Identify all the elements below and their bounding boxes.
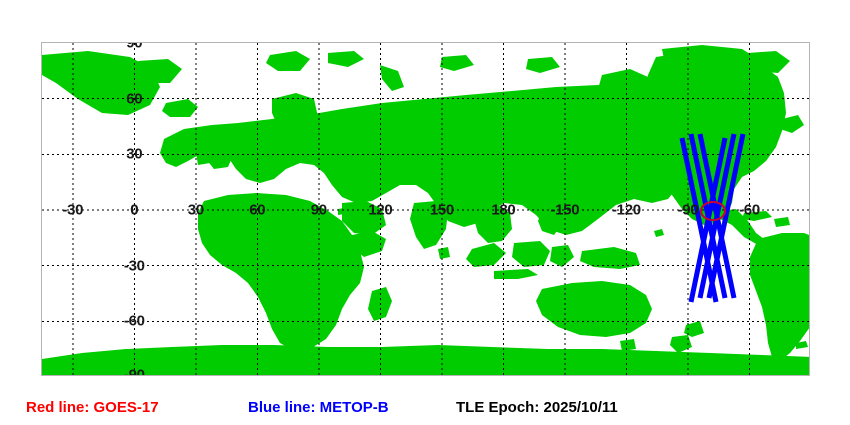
world-map-plot[interactable]: -30 0 30 60 90 120 150 180 -150 -120 -90… <box>41 42 810 376</box>
new-zealand-north-shape <box>684 321 704 337</box>
world-map-svg <box>42 43 810 376</box>
legend-red-line-goes17: Red line: GOES-17 <box>26 396 159 420</box>
severnaya-zemlya-shape <box>440 55 474 71</box>
australia-shape <box>536 281 652 337</box>
new-siberian-shape <box>526 57 560 73</box>
legend-blue-line-metopb: Blue line: METOP-B <box>248 396 389 420</box>
arabia-shape <box>342 201 386 235</box>
borneo-shape <box>512 241 550 267</box>
novaya-zemlya-shape <box>380 65 404 91</box>
south-america-shape <box>750 233 810 361</box>
map-legend: Red line: GOES-17 Blue line: METOP-B TLE… <box>0 396 850 420</box>
java-shape <box>494 269 538 279</box>
indochina-shape <box>474 205 512 243</box>
antarctica-shape <box>42 345 810 376</box>
new-zealand-south-shape <box>670 335 692 353</box>
greenland-shape <box>42 51 160 115</box>
sri-lanka-shape <box>438 247 450 259</box>
sumatra-shape <box>466 243 506 267</box>
hawaii-shape <box>654 229 664 237</box>
franz-josef-shape <box>328 51 364 67</box>
iceland-shape <box>162 99 198 117</box>
svalbard-shape <box>266 51 310 71</box>
hispaniola-shape <box>774 217 790 227</box>
tasmania-shape <box>620 339 636 351</box>
satellite-track-map-page: -30 0 30 60 90 120 150 180 -150 -120 -90… <box>0 0 850 425</box>
ireland-shape <box>196 151 210 165</box>
legend-tle-epoch: TLE Epoch: 2025/10/11 <box>456 396 618 420</box>
africa-shape <box>198 193 364 351</box>
sulawesi-shape <box>550 245 574 267</box>
